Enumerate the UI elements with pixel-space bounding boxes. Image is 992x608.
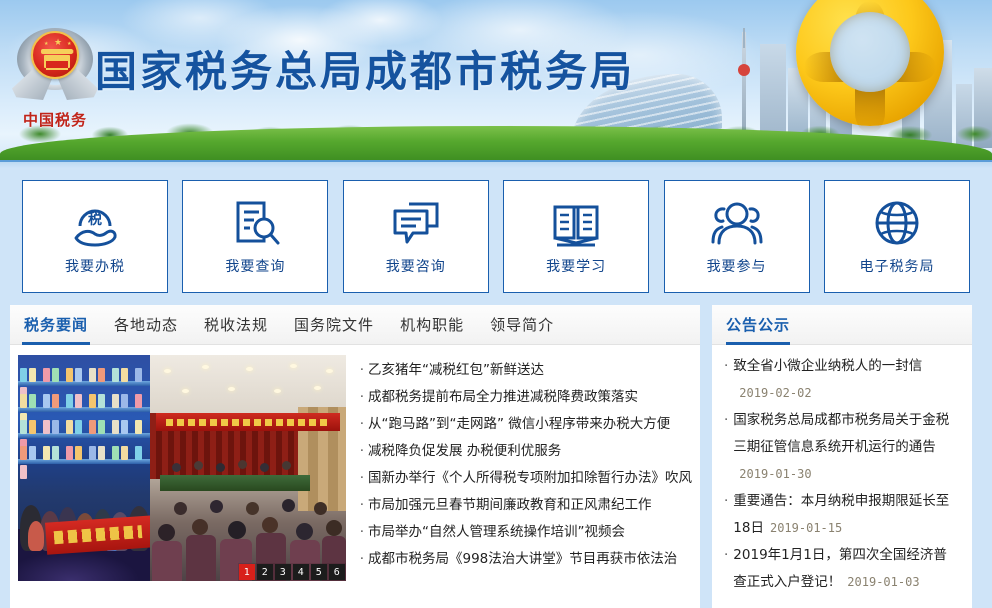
site-banner: ★ ★ ★ ★ ★ 中国税务 国家税务总局成都市税务局 (0, 0, 992, 168)
quick-link-zixun[interactable]: 我要咨询 (343, 180, 489, 293)
bullet-icon: · (360, 443, 364, 459)
announcement-item[interactable]: · 重要通告：本月纳税申报期限延长至18日2019-01-15 (724, 488, 960, 542)
news-list-item[interactable]: ·成都市税务局《998法治大讲堂》节目再获市依法治 (360, 546, 692, 573)
announcements-panel: 公告公示 · 致全省小微企业纳税人的一封信2019-02-02 · 国家税务总局… (712, 305, 972, 608)
people-group-icon (710, 198, 764, 250)
carousel-photo-library (18, 355, 152, 581)
news-list-item[interactable]: ·市局举办“自然人管理系统操作培训”视频会 (360, 519, 692, 546)
document-search-icon (228, 198, 282, 250)
bullet-icon: · (360, 551, 364, 567)
banner-divider (0, 160, 992, 168)
news-list-item[interactable]: ·乙亥猪年“减税红包”新鲜送达 (360, 357, 692, 384)
quick-link-banshui[interactable]: 税 我要办税 (22, 180, 168, 293)
bullet-icon: · (360, 389, 364, 405)
emblem-text: 中国税务 (14, 109, 96, 130)
quick-link-canyu[interactable]: 我要参与 (664, 180, 810, 293)
bullet-icon: · (360, 416, 364, 432)
bullet-icon: · (724, 353, 728, 407)
tab-shuishoufagui[interactable]: 税收法规 (202, 305, 270, 345)
quick-link-dianzishuiwuju[interactable]: 电子税务局 (824, 180, 970, 293)
news-list-item[interactable]: ·从“跑马路”到“走网路” 微信小程序带来办税大方便 (360, 411, 692, 438)
carousel-page-2[interactable]: 2 (257, 564, 273, 580)
announcement-item[interactable]: · 国家税务总局成都市税务局关于金税三期征管信息系统开机运行的通告2019-01… (724, 407, 960, 488)
announcements-tabbar: 公告公示 (712, 305, 972, 345)
tab-guowuyuanwenjian[interactable]: 国务院文件 (292, 305, 376, 345)
bullet-icon: · (360, 497, 364, 513)
announcement-date: 2019-02-02 (739, 386, 811, 400)
carousel-page-4[interactable]: 4 (293, 564, 309, 580)
announcement-date: 2019-01-15 (770, 521, 842, 535)
carousel-page-1[interactable]: 1 (239, 564, 255, 580)
announcement-item[interactable]: · 致全省小微企业纳税人的一封信2019-02-02 (724, 353, 960, 407)
site-title: 国家税务总局成都市税务局 (95, 38, 635, 99)
bullet-icon: · (724, 488, 728, 542)
announcements-list: · 致全省小微企业纳税人的一封信2019-02-02 · 国家税务总局成都市税务… (712, 345, 972, 596)
bullet-icon: · (360, 470, 364, 486)
svg-text:税: 税 (88, 211, 102, 228)
announcement-date: 2019-01-03 (847, 575, 919, 589)
carousel-photo-conference (150, 355, 346, 581)
news-list-item[interactable]: ·成都税务提前布局全力推进减税降费政策落实 (360, 384, 692, 411)
open-book-icon (549, 198, 603, 250)
quick-link-label: 我要学习 (546, 256, 606, 276)
hand-holding-tax-icon: 税 (68, 198, 122, 250)
quick-link-label: 我要咨询 (386, 256, 446, 276)
quick-link-chaxun[interactable]: 我要查询 (182, 180, 328, 293)
announcement-item[interactable]: · 2019年1月1日，第四次全国经济普查正式入户登记！2019-01-03 (724, 542, 960, 596)
quick-link-label: 我要办税 (65, 256, 125, 276)
quick-link-label: 电子税务局 (859, 256, 934, 276)
news-body: 1 2 3 4 5 6 ·乙亥猪年“减税红包”新鲜送达 ·成都税务提前布局全力推… (10, 345, 700, 581)
bullet-icon: · (724, 407, 728, 488)
bullet-icon: · (724, 542, 728, 596)
tab-shuiwuyaowen[interactable]: 税务要闻 (22, 305, 90, 345)
tab-gonggaogongshi[interactable]: 公告公示 (726, 305, 790, 345)
quick-link-label: 我要查询 (225, 256, 285, 276)
quick-link-label: 我要参与 (707, 256, 767, 276)
tab-jigouzhineng[interactable]: 机构职能 (398, 305, 466, 345)
news-list-item[interactable]: ·减税降负促发展 办税便利优服务 (360, 438, 692, 465)
globe-icon (870, 198, 924, 250)
news-panel: 税务要闻 各地动态 税收法规 国务院文件 机构职能 领导简介 (10, 305, 700, 608)
chat-bubble-icon (389, 198, 443, 250)
news-list: ·乙亥猪年“减税红包”新鲜送达 ·成都税务提前布局全力推进减税降费政策落实 ·从… (360, 355, 692, 581)
news-carousel[interactable]: 1 2 3 4 5 6 (18, 355, 346, 581)
tab-lingdaojianjie[interactable]: 领导简介 (488, 305, 556, 345)
carousel-page-3[interactable]: 3 (275, 564, 291, 580)
quick-links-row: 税 我要办税 我要查询 我要咨 (0, 180, 992, 296)
carousel-page-5[interactable]: 5 (311, 564, 327, 580)
bullet-icon: · (360, 362, 364, 378)
quick-link-xuexi[interactable]: 我要学习 (503, 180, 649, 293)
bullet-icon: · (360, 524, 364, 540)
news-list-item[interactable]: ·国新办举行《个人所得税专项附加扣除暂行办法》吹风 (360, 465, 692, 492)
tab-gedidongtai[interactable]: 各地动态 (112, 305, 180, 345)
china-taxation-emblem-icon: ★ ★ ★ ★ ★ 中国税务 (14, 22, 96, 130)
news-tabbar: 税务要闻 各地动态 税收法规 国务院文件 机构职能 领导简介 (10, 305, 700, 345)
news-list-item[interactable]: ·市局加强元旦春节期间廉政教育和正风肃纪工作 (360, 492, 692, 519)
carousel-page-6[interactable]: 6 (329, 564, 345, 580)
carousel-pagination[interactable]: 1 2 3 4 5 6 (238, 563, 346, 581)
announcement-date: 2019-01-30 (739, 467, 811, 481)
main-content: 税务要闻 各地动态 税收法规 国务院文件 机构职能 领导简介 (0, 305, 992, 608)
